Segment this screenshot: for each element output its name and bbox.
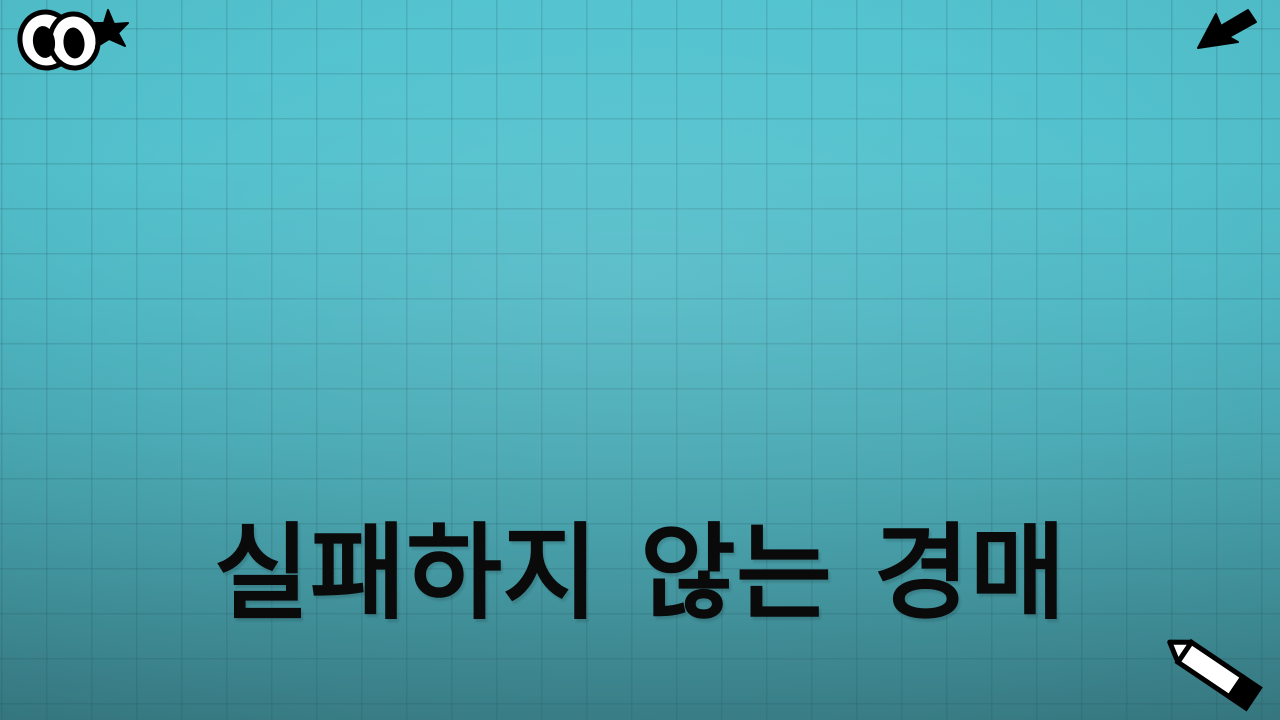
title-card: 실패하지 않는 경매 투자를 위한 전문가 팁 [0,0,1280,720]
arrow-down-left-icon [1196,6,1258,56]
page-title: 실패하지 않는 경매 투자를 위한 전문가 팁 [0,206,1280,720]
cartoon-eyes-star-logo [8,4,128,76]
eyes-icon [16,9,100,72]
headline-line-1: 실패하지 않는 경매 [0,501,1280,649]
